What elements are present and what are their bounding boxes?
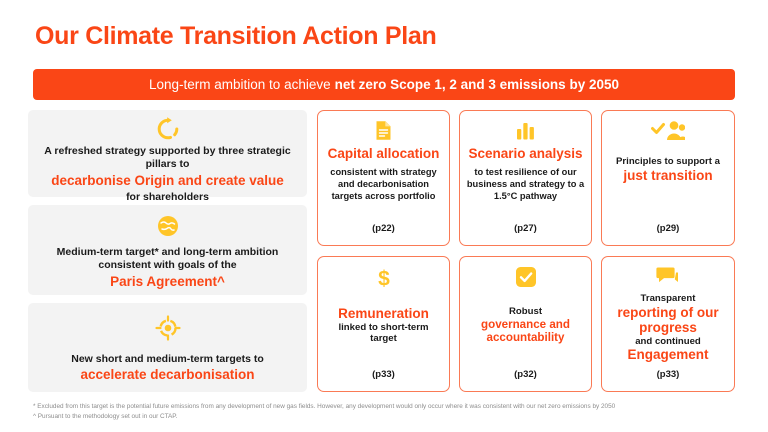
panel-2-text: Medium-term target* and long-term ambiti… <box>28 246 307 292</box>
panel-1-highlight: decarbonise Origin and create value <box>40 173 295 190</box>
card-2-page-ref: (p27) <box>460 223 591 234</box>
card-3-body: Principles to support a just transition <box>610 156 726 183</box>
banner-emphasis-text: net zero Scope 1, 2 and 3 emissions by 2… <box>335 77 619 92</box>
people-check-icon <box>651 120 685 142</box>
card-6-line1: Transparent <box>608 293 728 305</box>
panel-3-line1: New short and medium-term targets to <box>71 353 264 365</box>
card-3-page-ref: (p29) <box>602 223 734 234</box>
speech-bubble-icon <box>656 266 680 286</box>
footnote-asterisk: * Excluded from this target is the poten… <box>33 402 753 412</box>
target-crosshair-icon <box>155 315 181 341</box>
action-cards-grid: Capital allocation consistent with strat… <box>317 110 735 392</box>
card-3-highlight: just transition <box>616 168 720 184</box>
panel-1-line3: for shareholders <box>126 191 209 203</box>
card-6-body: Transparent reporting of our progress an… <box>602 293 734 363</box>
banner-lead-text: Long-term ambition to achieve <box>149 77 331 92</box>
card-5-page-ref: (p32) <box>460 369 591 380</box>
card-4-body: Remuneration linked to short-term target <box>318 306 449 345</box>
dollar-icon: $ <box>375 266 393 290</box>
card-5-highlight: governance and accountability <box>466 318 585 345</box>
card-1-page-ref: (p22) <box>318 223 449 234</box>
card-6-line2: and continued <box>608 336 728 348</box>
panel-paris-agreement: Medium-term target* and long-term ambiti… <box>28 205 307 295</box>
strategy-panels-column: A refreshed strategy supported by three … <box>28 110 307 392</box>
panel-refreshed-strategy: A refreshed strategy supported by three … <box>28 110 307 197</box>
globe-icon <box>155 213 181 239</box>
card-2-title: Scenario analysis <box>462 146 588 162</box>
card-capital-allocation: Capital allocation consistent with strat… <box>317 110 450 246</box>
check-square-icon <box>515 266 537 288</box>
card-1-title: Capital allocation <box>322 146 446 162</box>
footnotes: * Excluded from this target is the poten… <box>33 402 753 422</box>
card-4-page-ref: (p33) <box>318 369 449 380</box>
card-6-page-ref: (p33) <box>602 369 734 380</box>
bar-chart-icon <box>515 120 536 141</box>
panel-2-highlight: Paris Agreement^ <box>40 274 295 291</box>
panel-2-line1: Medium-term target* and long-term ambiti… <box>57 246 279 258</box>
card-remuneration: $ Remuneration linked to short-term targ… <box>317 256 450 392</box>
refresh-cycle-icon <box>155 116 181 142</box>
card-3-lead: Principles to support a <box>616 156 720 168</box>
card-5-lead: Robust <box>466 306 585 318</box>
ambition-banner: Long-term ambition to achieve net zero S… <box>33 69 735 100</box>
panel-1-line2: pillars to <box>146 158 190 170</box>
page-title: Our Climate Transition Action Plan <box>35 22 436 51</box>
document-icon <box>374 120 393 141</box>
card-4-highlight: Remuneration <box>324 306 443 322</box>
panel-2-line2: consistent with goals of the <box>98 259 236 271</box>
card-4-sub: linked to short-term target <box>324 322 443 345</box>
card-6-highlight-2: Engagement <box>608 347 728 363</box>
panel-1-text: A refreshed strategy supported by three … <box>28 145 307 204</box>
climate-transition-action-plan-slide: Our Climate Transition Action Plan Long-… <box>0 0 768 432</box>
svg-text:$: $ <box>378 268 390 291</box>
card-2-subtitle: to test resilience of our business and s… <box>460 166 591 202</box>
card-6-highlight-1: reporting of our progress <box>608 305 728 336</box>
footnote-caret: ^ Pursuant to the methodology set out in… <box>33 412 753 422</box>
card-1-subtitle: consistent with strategy and decarbonisa… <box>318 166 449 202</box>
panel-3-text: New short and medium-term targets to acc… <box>59 353 276 385</box>
card-5-body: Robust governance and accountability <box>460 306 591 344</box>
card-governance-accountability: Robust governance and accountability (p3… <box>459 256 592 392</box>
card-reporting-engagement: Transparent reporting of our progress an… <box>601 256 735 392</box>
panel-3-highlight: accelerate decarbonisation <box>71 367 264 384</box>
card-just-transition: Principles to support a just transition … <box>601 110 735 246</box>
panel-accelerate-decarbonisation: New short and medium-term targets to acc… <box>28 303 307 392</box>
panel-1-line1: A refreshed strategy supported by three … <box>44 145 290 157</box>
card-scenario-analysis: Scenario analysis to test resilience of … <box>459 110 592 246</box>
